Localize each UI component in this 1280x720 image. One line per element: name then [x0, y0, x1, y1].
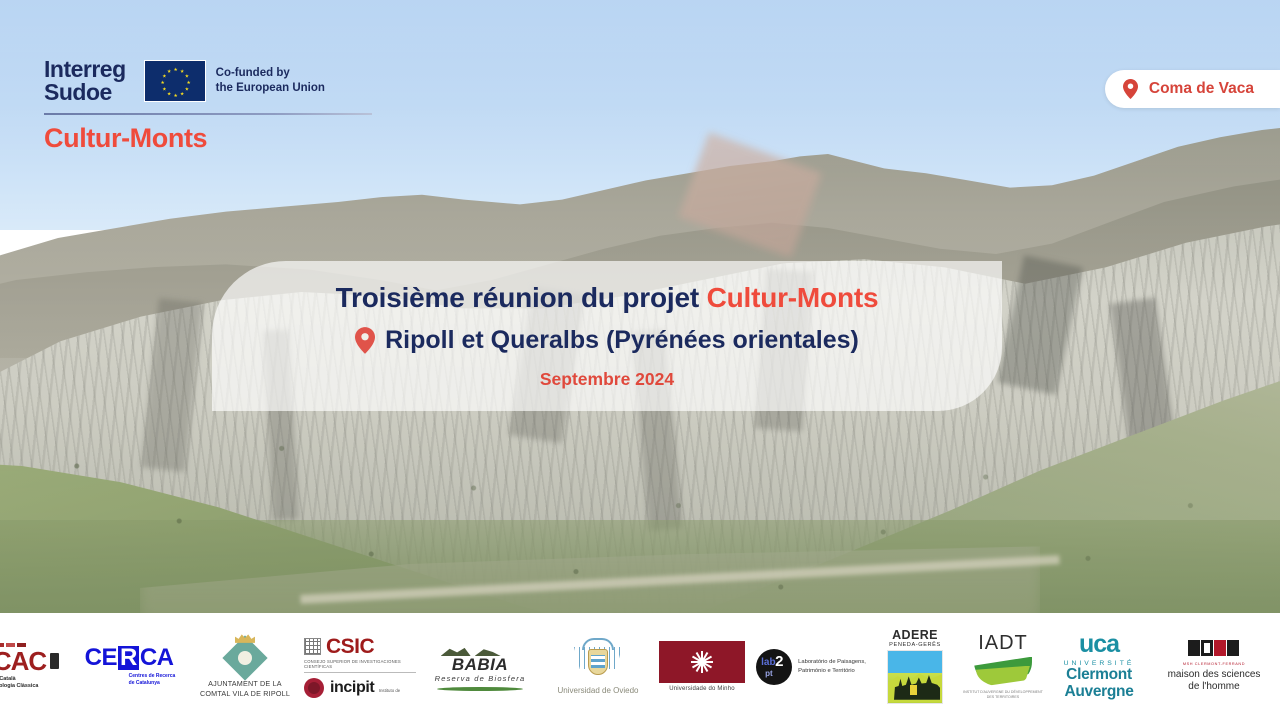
uca-line3: Auvergne	[1064, 684, 1135, 701]
icac-acronym-row: CAC	[0, 648, 59, 674]
iadt-wordmark: IADT	[963, 633, 1043, 653]
logo-babia-reserva: BABIA Reserva de Biosfera	[416, 613, 544, 720]
msh-subtitle: maison des sciences de l'homme	[1168, 669, 1261, 694]
partner-logo-strip: CAC ut Català ueologia Clàssica CERCA Ce…	[0, 613, 1280, 720]
eu-funding-text: Co-funded by the European Union	[216, 66, 325, 97]
incipit-row: incipit Instituto de	[304, 678, 416, 698]
icac-chip-icon	[50, 653, 59, 669]
logo-universidade-minho: Universidade do Minho	[652, 613, 752, 720]
minho-mark-icon	[659, 641, 745, 683]
csic-acronym: CSIC	[326, 636, 374, 657]
icac-subtitle: ut Català ueologia Clàssica	[0, 676, 59, 691]
csic-tagline: CONSEJO SUPERIOR DE INVESTIGACIONES CIEN…	[304, 659, 416, 669]
cerca-sub-line2: de Catalunya	[129, 680, 176, 687]
ripoll-sub-line2: COMTAL VILA DE RIPOLL	[200, 689, 290, 699]
interreg-line1: Interreg	[44, 58, 126, 81]
lab2pt-mark3: pt	[765, 669, 773, 678]
logo-ajuntament-ripoll: AJUNTAMENT DE LA COMTAL VILA DE RIPOLL	[186, 613, 304, 720]
iadt-tagline: INSTITUT D'AUVERGNE DU DÉVELOPPEMENT DES…	[963, 690, 1043, 701]
adere-illustration-icon	[887, 650, 943, 704]
cerca-part2: R	[118, 646, 139, 670]
lab2pt-mark2: 2	[775, 653, 783, 670]
ripoll-crest-icon	[227, 634, 263, 676]
interreg-logo-block: Interreg Sudoe Co-funded by the European…	[44, 58, 384, 154]
eu-funding-line1: Co-funded by	[216, 66, 325, 82]
cerca-part1: CE	[85, 646, 117, 670]
slide-location-label: Ripoll et Queralbs (Pyrénées orientales)	[385, 326, 859, 355]
logo-divider	[44, 113, 372, 115]
eu-funding-lockup: Co-funded by the European Union	[144, 60, 325, 102]
csic-row: CSIC	[304, 636, 416, 657]
location-badge[interactable]: Coma de Vaca	[1105, 70, 1280, 108]
ripoll-subtitle: AJUNTAMENT DE LA COMTAL VILA DE RIPOLL	[200, 679, 290, 699]
eu-funding-line2: the European Union	[216, 81, 325, 97]
csic-divider	[304, 672, 416, 673]
babia-swoosh-icon	[437, 687, 523, 691]
logo-le-mont-dore: LE MO DO MASSIF	[1276, 613, 1280, 720]
lab2pt-mark1: lab	[761, 657, 775, 668]
logo-csic-incipit: CSIC CONSEJO SUPERIOR DE INVESTIGACIONES…	[304, 613, 416, 720]
lab2pt-subtitle: Laboratório de Paisagens, Património e T…	[798, 658, 866, 675]
slide-heading: Troisième réunion du projet Cultur-Monts	[336, 282, 879, 314]
adere-wordmark: ADERE	[887, 629, 943, 642]
incipit-mark-icon	[304, 678, 324, 698]
eu-flag-icon	[144, 60, 206, 102]
slide-heading-main: Troisième réunion du projet	[336, 282, 707, 313]
icac-sub-line2: ueologia Clàssica	[0, 683, 59, 690]
minho-label: Universidade do Minho	[659, 686, 745, 692]
babia-mountains-icon	[435, 642, 526, 656]
cerca-wordmark: CERCA	[85, 646, 176, 670]
logo-iadt: IADT INSTITUT D'AUVERGNE DU DÉVELOPPEMEN…	[960, 613, 1046, 720]
cerca-sub-line1: Centres de Recerca	[129, 673, 176, 680]
iadt-tagline-line2: DES TERRITOIRES	[963, 695, 1043, 700]
icac-sub-line1: ut Català	[0, 676, 59, 683]
title-card: Troisième réunion du projet Cultur-Monts…	[212, 261, 1002, 411]
msh-tiny-label: MSH CLERMONT-FERRAND	[1168, 662, 1261, 666]
babia-wordmark: BABIA	[435, 656, 526, 673]
lab2pt-sub-line2: Património e Território	[798, 667, 866, 676]
logo-icac: CAC ut Català ueologia Clàssica	[0, 613, 74, 720]
map-pin-icon	[355, 327, 375, 354]
csic-grid-icon	[304, 638, 321, 655]
incipit-wordmark: incipit	[330, 679, 374, 696]
cerca-part3: CA	[140, 646, 174, 670]
lab2pt-mark-icon: lab 2 pt	[756, 649, 792, 685]
uca-line2: Clermont	[1064, 667, 1135, 684]
msh-sub-line1: maison des sciences	[1168, 669, 1261, 682]
msh-sub-line2: de l'homme	[1168, 681, 1261, 694]
location-badge-label: Coma de Vaca	[1149, 80, 1254, 98]
iadt-leaf-icon	[974, 657, 1032, 687]
interreg-line2: Sudoe	[44, 81, 126, 104]
logo-lab2pt: lab 2 pt Laboratório de Paisagens, Patri…	[752, 613, 870, 720]
oviedo-crest-icon	[572, 638, 624, 684]
oviedo-label: Universidad de Oviedo	[558, 686, 639, 695]
slide-heading-accent: Cultur-Monts	[707, 282, 879, 313]
incipit-subtitle: Instituto de	[379, 688, 400, 693]
presentation-slide: Interreg Sudoe Co-funded by the European…	[0, 0, 1280, 720]
babia-subtitle: Reserva de Biosfera	[435, 674, 526, 683]
cerca-subtitle: Centres de Recerca de Catalunya	[129, 673, 176, 687]
icac-acronym: CAC	[0, 648, 46, 674]
uca-mark: uca	[1064, 632, 1135, 657]
logo-cerca: CERCA Centres de Recerca de Catalunya	[74, 613, 186, 720]
slide-date: Septembre 2024	[540, 369, 674, 390]
map-pin-icon	[1123, 79, 1138, 99]
msh-mark-icon	[1188, 640, 1239, 656]
project-wordmark: Cultur-Monts	[44, 123, 384, 154]
logo-universidad-oviedo: Universidad de Oviedo	[544, 613, 652, 720]
logo-maison-des-sciences-de-lhomme: MSH CLERMONT-FERRAND maison des sciences…	[1152, 613, 1276, 720]
logo-adere-peneda-geres: ADERE PENEDA-GERÊS	[870, 613, 960, 720]
interreg-wordmark: Interreg Sudoe	[44, 58, 126, 105]
logo-universite-clermont-auvergne: uca UNIVERSITÉ Clermont Auvergne	[1046, 613, 1152, 720]
slide-location: Ripoll et Queralbs (Pyrénées orientales)	[355, 326, 859, 355]
incipit-sub-line1: Instituto de	[379, 688, 400, 693]
lab2pt-sub-line1: Laboratório de Paisagens,	[798, 658, 866, 667]
adere-subtitle: PENEDA-GERÊS	[887, 642, 943, 648]
